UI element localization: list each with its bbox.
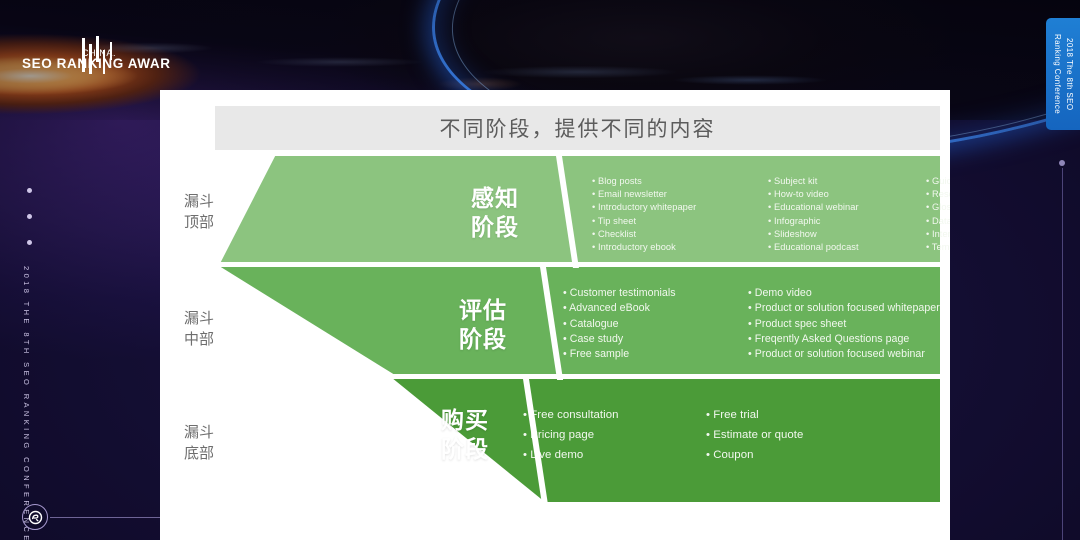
list-item: Slideshow xyxy=(768,228,898,241)
rail-dot xyxy=(27,188,32,193)
list-item: Advanced eBook xyxy=(563,301,718,316)
left-rail: 2018 THE 8TH SEO RANKING CONFERENCE xyxy=(18,180,52,530)
bullet-column: Demo video Product or solution focused w… xyxy=(748,286,940,362)
slide-title-bar: 不同阶段，提供不同的内容 xyxy=(215,106,940,150)
list-item: Customer testimonials xyxy=(563,286,718,301)
svg-text:SEO RANKING AWARD: SEO RANKING AWARD xyxy=(22,56,170,71)
funnel-stage-2-columns: Customer testimonials Advanced eBook Cat… xyxy=(563,286,940,362)
list-item: Interview xyxy=(926,228,950,241)
funnel-stage-3-columns: Free consultation Pricing page Live demo… xyxy=(523,406,803,465)
list-item: Freqently Asked Questions page xyxy=(748,332,940,347)
list-item: How-to video xyxy=(768,188,898,201)
rail-dots xyxy=(27,188,32,266)
conference-tab[interactable]: 2018 The 8th SEO Ranking Conference xyxy=(1046,18,1080,130)
funnel-stage-2-name: 评估 阶段 xyxy=(443,297,523,355)
list-item: Catalogue xyxy=(563,317,718,332)
rail-badge[interactable] xyxy=(22,504,48,530)
funnel-stage-2-label: 漏斗 中部 xyxy=(184,308,244,350)
rail-vertical-text: 2018 THE 8TH SEO RANKING CONFERENCE xyxy=(22,266,31,540)
bullet-column: Customer testimonials Advanced eBook Cat… xyxy=(563,286,718,362)
list-item: Data visualization xyxy=(926,215,950,228)
list-item: Pricing page xyxy=(523,426,658,446)
list-item: Live demo xyxy=(523,446,658,466)
list-item: Coupon xyxy=(706,446,803,466)
list-item: Estimate or quote xyxy=(706,426,803,446)
brand-logo-icon: CHINA. SEO RANKING AWARD xyxy=(20,36,170,78)
list-item: Free consultation xyxy=(523,406,658,426)
list-item: Introductory ebook xyxy=(592,241,740,254)
brand-logo: CHINA. SEO RANKING AWARD xyxy=(20,36,170,78)
rail-dot xyxy=(27,240,32,245)
list-item: Template xyxy=(926,241,950,254)
funnel-stage-3-name: 购买 阶段 xyxy=(425,407,505,465)
page-title: 不同阶段，提供不同的内容 xyxy=(440,113,716,143)
list-item: Guide or tutorial xyxy=(926,175,950,188)
funnel-diagram: 感知 阶段 漏斗 顶部 Blog posts Email newsletter … xyxy=(160,156,950,540)
list-item: Educational podcast xyxy=(768,241,898,254)
slide-card: 不同阶段，提供不同的内容 感知 阶段 漏斗 顶部 Blog posts Emai… xyxy=(160,90,950,540)
list-item: Product or solution focused webinar xyxy=(748,347,940,362)
list-item: Product or solution focused whitepaper xyxy=(748,301,940,316)
right-rail-line xyxy=(1062,168,1063,540)
list-item: Blog posts xyxy=(592,175,740,188)
list-item: Email newsletter xyxy=(592,188,740,201)
bullet-column: Free consultation Pricing page Live demo xyxy=(523,406,658,465)
bullet-column: Subject kit How-to video Educational web… xyxy=(768,175,898,254)
bullet-column: Blog posts Email newsletter Introductory… xyxy=(592,175,740,254)
list-item: Glossary xyxy=(926,201,950,214)
list-item: Product spec sheet xyxy=(748,317,940,332)
bullet-column: Free trial Estimate or quote Coupon xyxy=(706,406,803,465)
rail-dot xyxy=(27,214,32,219)
list-item: Checklist xyxy=(592,228,740,241)
list-item: Educational webinar xyxy=(768,201,898,214)
right-rail-dot xyxy=(1059,160,1065,166)
circle-q-logo-icon xyxy=(28,510,43,525)
list-item: Free sample xyxy=(563,347,718,362)
bullet-column: Guide or tutorial Resource round up Glos… xyxy=(926,175,950,254)
list-item: Case study xyxy=(563,332,718,347)
rail-divider-line xyxy=(50,517,176,518)
list-item: Free trial xyxy=(706,406,803,426)
slide-canvas: CHINA. SEO RANKING AWARD 2018 THE 8TH SE… xyxy=(0,0,1080,540)
list-item: Demo video xyxy=(748,286,940,301)
funnel-stage-3-label: 漏斗 底部 xyxy=(184,422,244,464)
funnel-stage-1-label: 漏斗 顶部 xyxy=(184,191,244,233)
funnel-stage-1-columns: Blog posts Email newsletter Introductory… xyxy=(592,175,950,254)
list-item: Tip sheet xyxy=(592,215,740,228)
list-item: Infographic xyxy=(768,215,898,228)
funnel-stage-1-name: 感知 阶段 xyxy=(455,185,535,243)
list-item: Subject kit xyxy=(768,175,898,188)
conference-tab-label: 2018 The 8th SEO Ranking Conference xyxy=(1051,34,1075,114)
list-item: Resource round up xyxy=(926,188,950,201)
list-item: Introductory whitepaper xyxy=(592,201,740,214)
